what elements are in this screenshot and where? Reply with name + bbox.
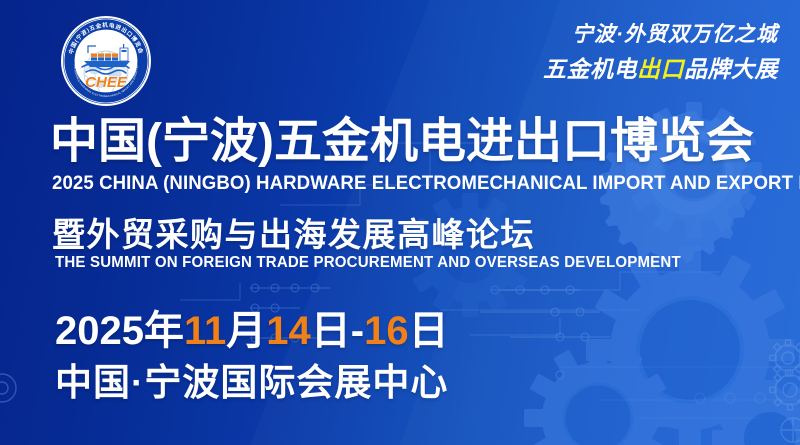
date-day-end: 16: [364, 309, 409, 353]
event-venue: 中国·宁波国际会展中心: [55, 352, 448, 406]
slogan-line-2: 五金机电出口品牌大展: [543, 57, 778, 81]
main-title-cn: 中国(宁波)五金机电进出口博览会: [50, 116, 754, 168]
date-separator: -: [351, 309, 364, 353]
sub-title-en: THE SUMMIT ON FOREIGN TRADE PROCUREMENT …: [55, 254, 681, 272]
slogan-block: 宁波·外贸双万亿之城 五金机电出口品牌大展: [543, 24, 778, 81]
expo-banner: 中国(宁波)五金机电进出口博览会 CHINA (NINGBO) HARDWARE…: [0, 0, 800, 445]
slogan-line-2-suffix: 品牌大展: [684, 56, 778, 82]
event-date: 2025年11月14日-16日: [55, 298, 449, 356]
date-year: 2025年: [55, 309, 184, 353]
main-title-en: 2025 CHINA (NINGBO) HARDWARE ELECTROMECH…: [52, 172, 800, 195]
date-month-number: 11: [184, 309, 226, 353]
chee-seal-icon: 中国(宁波)五金机电进出口博览会 CHINA (NINGBO) HARDWARE…: [60, 15, 152, 107]
slogan-line-2-highlight: 出口: [637, 56, 684, 82]
slogan-line-2-prefix: 五金机电: [543, 56, 637, 82]
chee-logo[interactable]: 中国(宁波)五金机电进出口博览会 CHINA (NINGBO) HARDWARE…: [60, 15, 152, 107]
date-day-start: 14: [266, 309, 311, 353]
sub-title-cn: 暨外贸采购与出海发展高峰论坛: [52, 208, 535, 256]
date-day-end-unit: 日: [409, 309, 449, 353]
date-month-unit: 月: [226, 309, 266, 353]
date-day-unit: 日: [311, 309, 351, 353]
slogan-line-1: 宁波·外贸双万亿之城: [543, 24, 778, 46]
